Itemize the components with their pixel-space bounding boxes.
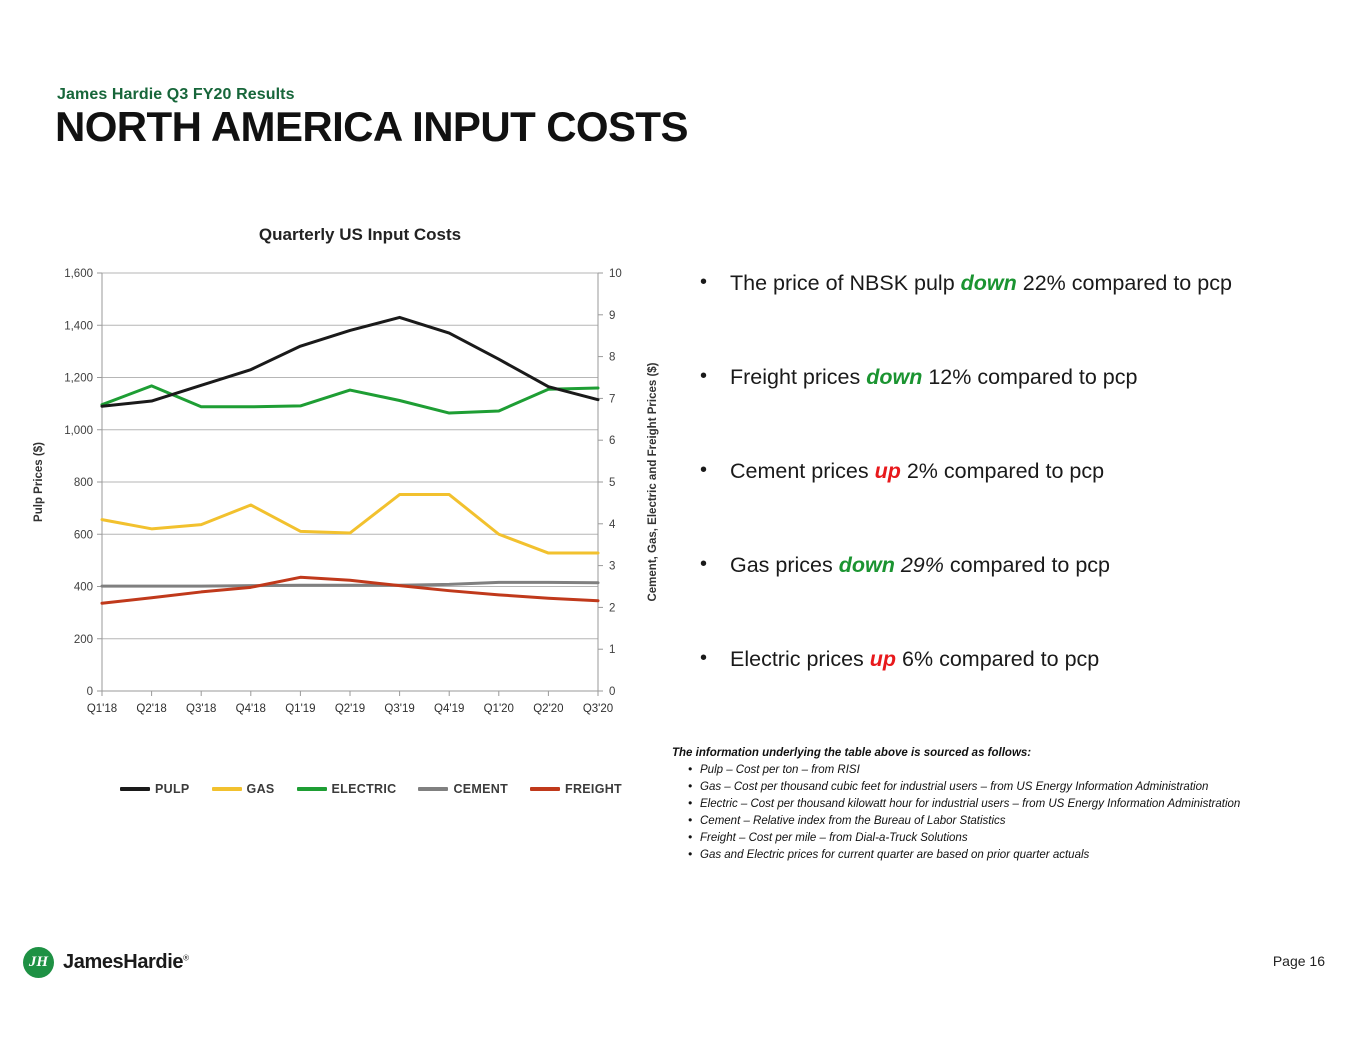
y-axis-title: Pulp Prices ($)	[33, 442, 45, 522]
y-axis-tick-label: 0	[87, 686, 93, 698]
legend-label: CEMENT	[453, 782, 508, 796]
footnote-item: Gas and Electric prices for current quar…	[688, 847, 1332, 864]
footnote-item: Pulp – Cost per ton – from RISI	[688, 762, 1332, 779]
y2-axis-tick-label: 3	[609, 561, 615, 573]
y2-axis-tick-label: 0	[609, 686, 615, 698]
legend-item-cement: CEMENT	[418, 782, 508, 796]
footnotes: The information underlying the table abo…	[672, 747, 1332, 864]
bullet-text-lead: The price of NBSK pulp	[730, 271, 961, 295]
bullet-percent-italic: 29%	[901, 553, 944, 577]
bullet-dot-icon: •	[700, 458, 710, 483]
bullet-text-tail: 22% compared to pcp	[1017, 271, 1232, 295]
bullet-text: Gas prices down 29% compared to pcp	[730, 552, 1350, 579]
x-axis-tick-label: Q2'18	[136, 703, 166, 715]
bullet-direction-emphasis: down	[961, 271, 1017, 295]
y-axis-tick-label: 1,400	[64, 320, 93, 332]
y-axis-tick-label: 1,000	[64, 425, 93, 437]
legend-label: GAS	[247, 782, 275, 796]
bullet-text-lead: Cement prices	[730, 459, 875, 483]
legend-swatch-gas	[212, 787, 242, 791]
legend-item-freight: FREIGHT	[530, 782, 622, 796]
bullet-text: Cement prices up 2% compared to pcp	[730, 458, 1350, 485]
y2-axis-tick-label: 9	[609, 310, 615, 322]
x-axis-tick-label: Q2'19	[335, 703, 365, 715]
x-axis-tick-label: Q3'18	[186, 703, 216, 715]
trademark-symbol: ®	[183, 953, 189, 962]
legend-item-electric: ELECTRIC	[297, 782, 397, 796]
chart-legend: PULPGASELECTRICCEMENTFREIGHT	[120, 778, 590, 800]
bullet-text-lead: Electric prices	[730, 647, 870, 671]
y2-axis-tick-label: 2	[609, 602, 615, 614]
bullet-direction-emphasis: up	[875, 459, 901, 483]
y-axis-tick-label: 400	[74, 582, 93, 594]
footnote-item: Gas – Cost per thousand cubic feet for i…	[688, 779, 1332, 796]
brand-wordmark-text: JamesHardie	[63, 951, 183, 973]
bullet-item: •The price of NBSK pulp down 22% compare…	[700, 270, 1350, 297]
footnote-item: Electric – Cost per thousand kilowatt ho…	[688, 796, 1332, 813]
y-axis-tick-label: 1,200	[64, 373, 93, 385]
x-axis-tick-label: Q2'20	[533, 703, 563, 715]
james-hardie-monogram-icon: JH	[23, 947, 54, 978]
y2-axis-tick-label: 10	[609, 268, 622, 280]
x-axis-tick-label: Q4'19	[434, 703, 464, 715]
legend-label: PULP	[155, 782, 190, 796]
legend-swatch-freight	[530, 787, 560, 791]
series-line-gas	[102, 495, 598, 554]
bullet-text: Freight prices down 12% compared to pcp	[730, 364, 1350, 391]
series-line-cement	[102, 582, 598, 586]
bullet-text-tail: compared to pcp	[944, 553, 1110, 577]
page-title: NORTH AMERICA INPUT COSTS	[55, 105, 688, 149]
bullet-text-lead: Gas prices	[730, 553, 839, 577]
footnote-heading: The information underlying the table abo…	[672, 747, 1332, 759]
y2-axis-tick-label: 1	[609, 644, 615, 656]
bullet-text-tail: 6% compared to pcp	[896, 647, 1099, 671]
bullet-text: Electric prices up 6% compared to pcp	[730, 646, 1350, 673]
bullet-dot-icon: •	[700, 646, 710, 671]
footnote-list: Pulp – Cost per ton – from RISIGas – Cos…	[672, 762, 1332, 864]
chart-title: Quarterly US Input Costs	[20, 225, 680, 245]
bullet-direction-emphasis: down	[866, 365, 922, 389]
bullet-dot-icon: •	[700, 270, 710, 295]
bullet-dot-icon: •	[700, 552, 710, 577]
slide: James Hardie Q3 FY20 Results NORTH AMERI…	[0, 0, 1365, 1055]
footnote-item: Cement – Relative index from the Bureau …	[688, 813, 1332, 830]
legend-swatch-pulp	[120, 787, 150, 791]
y-axis-tick-label: 800	[74, 477, 93, 489]
legend-item-gas: GAS	[212, 782, 275, 796]
y-axis-tick-label: 200	[74, 634, 93, 646]
bullet-list: •The price of NBSK pulp down 22% compare…	[700, 270, 1350, 739]
brand-logo: JH JamesHardie®	[23, 947, 189, 978]
legend-swatch-electric	[297, 787, 327, 791]
legend-swatch-cement	[418, 787, 448, 791]
bullet-item: •Electric prices up 6% compared to pcp	[700, 646, 1350, 673]
legend-label: FREIGHT	[565, 782, 622, 796]
bullet-text-tail: 12% compared to pcp	[922, 365, 1137, 389]
input-costs-chart: Quarterly US Input Costs 02004006008001,…	[20, 225, 680, 815]
x-axis-tick-label: Q1'19	[285, 703, 315, 715]
y2-axis-tick-label: 8	[609, 352, 615, 364]
bullet-text-tail: 2% compared to pcp	[901, 459, 1104, 483]
x-axis-tick-label: Q3'19	[384, 703, 414, 715]
y2-axis-tick-label: 5	[609, 477, 615, 489]
bullet-text: The price of NBSK pulp down 22% compared…	[730, 270, 1350, 297]
x-axis-tick-label: Q1'18	[87, 703, 117, 715]
footnote-item: Freight – Cost per mile – from Dial-a-Tr…	[688, 830, 1332, 847]
bullet-item: •Gas prices down 29% compared to pcp	[700, 552, 1350, 579]
y-axis-tick-label: 1,600	[64, 268, 93, 280]
brand-wordmark: JamesHardie®	[63, 951, 189, 974]
x-axis-tick-label: Q4'18	[236, 703, 266, 715]
y2-axis-title: Cement, Gas, Electric and Freight Prices…	[647, 362, 659, 601]
series-line-electric	[102, 386, 598, 413]
x-axis-tick-label: Q1'20	[484, 703, 514, 715]
y2-axis-tick-label: 4	[609, 519, 616, 531]
bullet-item: •Freight prices down 12% compared to pcp	[700, 364, 1350, 391]
y2-axis-tick-label: 7	[609, 393, 615, 405]
bullet-direction-emphasis: up	[870, 647, 896, 671]
slide-eyebrow: James Hardie Q3 FY20 Results	[57, 86, 295, 104]
bullet-item: •Cement prices up 2% compared to pcp	[700, 458, 1350, 485]
legend-label: ELECTRIC	[332, 782, 397, 796]
x-axis-tick-label: Q3'20	[583, 703, 613, 715]
y-axis-tick-label: 600	[74, 529, 93, 541]
bullet-dot-icon: •	[700, 364, 710, 389]
series-line-pulp	[102, 317, 598, 406]
legend-item-pulp: PULP	[120, 782, 190, 796]
y2-axis-tick-label: 6	[609, 435, 615, 447]
bullet-text-lead: Freight prices	[730, 365, 866, 389]
bullet-direction-emphasis: down	[839, 553, 895, 577]
chart-canvas: 02004006008001,0001,2001,4001,6000123456…	[20, 251, 680, 751]
page-number: Page 16	[1273, 953, 1325, 969]
